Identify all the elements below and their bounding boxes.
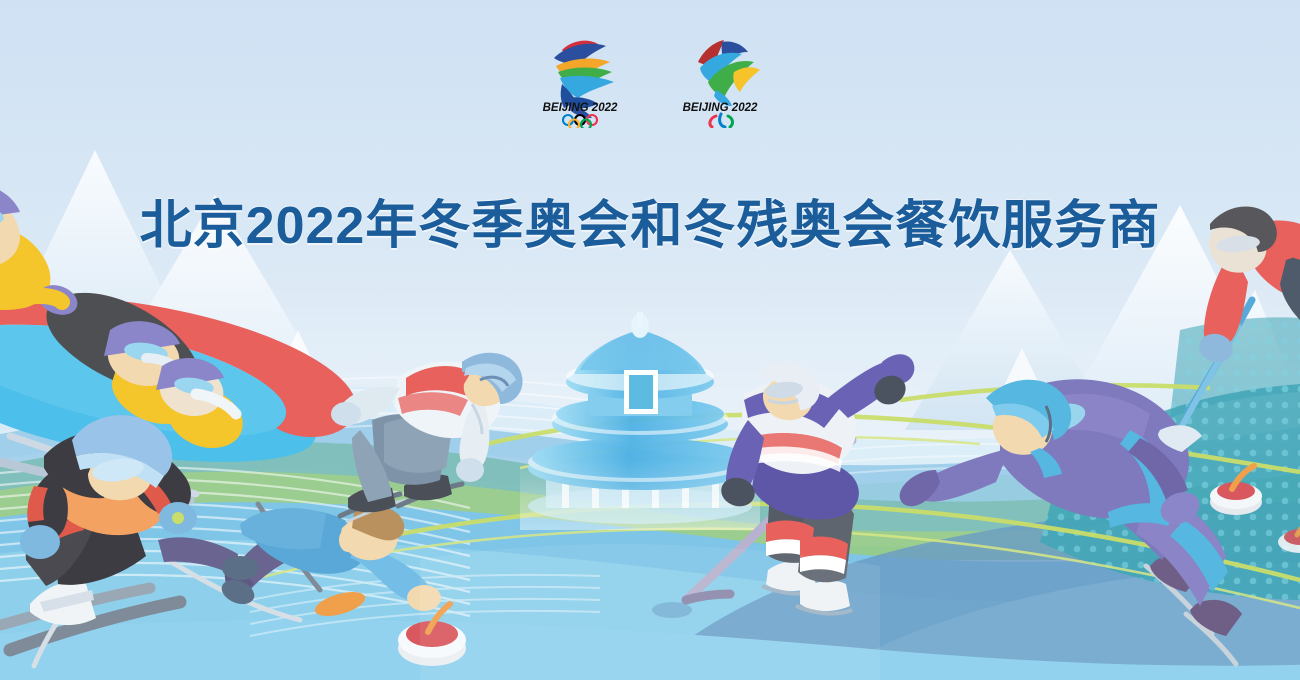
olympic-emblem: BEIJING 2022 bbox=[532, 28, 628, 128]
paralympic-wordmark: BEIJING 2022 bbox=[683, 102, 758, 114]
emblem-row: BEIJING 2022 bbox=[0, 28, 1300, 128]
paralympic-emblem-graphic: BEIJING 2022 bbox=[672, 28, 768, 128]
page-title: 北京2022年冬季奥会和冬残奥会餐饮服务商 bbox=[0, 183, 1300, 258]
beijing-2022-banner: BEIJING 2022 bbox=[0, 0, 1300, 680]
paralympic-agitos-icon bbox=[710, 114, 733, 127]
winter-paralympic-fei-icon bbox=[698, 40, 760, 106]
paralympic-emblem: BEIJING 2022 bbox=[672, 28, 768, 128]
olympic-wordmark: BEIJING 2022 bbox=[543, 102, 618, 114]
olympic-rings-icon bbox=[563, 115, 597, 128]
olympic-emblem-graphic: BEIJING 2022 bbox=[532, 28, 628, 128]
